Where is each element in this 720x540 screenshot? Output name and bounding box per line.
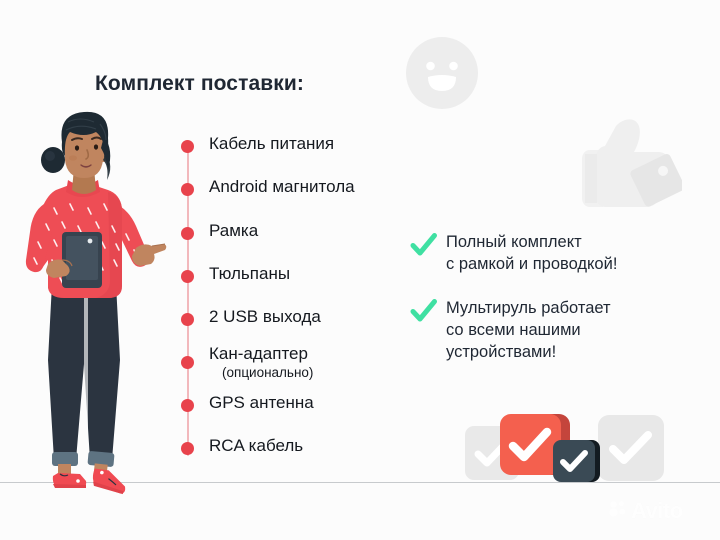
list-item-sublabel: (опционально) — [222, 365, 313, 380]
slide-canvas: Комплект поставки: Кабель питания Androi… — [0, 0, 720, 540]
benefit-line: Мультируль работает — [446, 299, 611, 317]
tablet-device — [62, 232, 102, 288]
check-card-dark — [553, 440, 595, 482]
sneaker-left — [53, 473, 86, 488]
trousers — [48, 284, 120, 460]
list-bullet-dot — [181, 442, 194, 455]
avito-watermark: Avito — [608, 498, 683, 524]
thumbs-up-icon — [570, 110, 682, 220]
page-title: Комплект поставки: — [95, 72, 304, 96]
benefit-line: Полный комплект — [446, 233, 582, 251]
smiley-face-icon — [405, 36, 479, 110]
benefit-text: Мультируль работает со всеми нашими устр… — [446, 297, 611, 363]
benefit-text: Полный комплект с рамкой и проводкой! — [446, 231, 617, 275]
benefit-line: устройствами! — [446, 343, 556, 361]
list-bullet-dot — [181, 183, 194, 196]
list-item-label: Кан-адаптер — [209, 344, 308, 364]
list-item-label: 2 USB выхода — [209, 307, 321, 327]
avito-wordmark: Avito — [631, 498, 683, 524]
check-card-gray-right — [598, 415, 664, 481]
woman-pointing-illustration — [8, 108, 168, 500]
trouser-cuff-left — [52, 452, 78, 466]
list-item-label: GPS антенна — [209, 393, 314, 413]
list-bullet-dot — [181, 313, 194, 326]
sneaker-right — [90, 466, 129, 494]
avito-logo-icon — [608, 499, 627, 523]
check-card-red — [500, 414, 561, 475]
list-bullet-dot — [181, 270, 194, 283]
list-item-label: Android магнитола — [209, 177, 355, 197]
list-bullet-dot — [181, 227, 194, 240]
benefit-line: со всеми нашими — [446, 321, 581, 339]
check-cards-group — [455, 400, 670, 495]
list-bullet-dot — [181, 399, 194, 412]
list-item-label: RCA кабель — [209, 436, 303, 456]
green-check-icon — [410, 232, 437, 259]
pointing-hand — [132, 244, 166, 266]
list-item-label: Рамка — [209, 221, 258, 241]
green-check-icon — [410, 298, 437, 325]
benefit-line: с рамкой и проводкой! — [446, 255, 617, 273]
list-item-label: Кабель питания — [209, 134, 334, 154]
list-item-label: Тюльпаны — [209, 264, 290, 284]
list-bullet-dot — [181, 356, 194, 369]
list-bullet-dot — [181, 140, 194, 153]
